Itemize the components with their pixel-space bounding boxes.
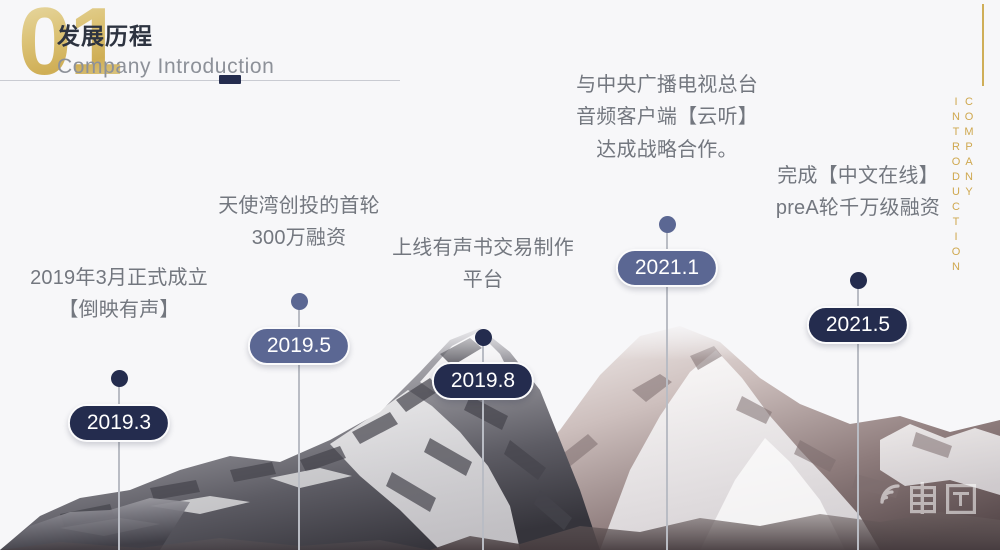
timeline-date-badge[interactable]: 2019.3 [68, 404, 170, 442]
timeline-node-dot[interactable] [475, 329, 492, 346]
timeline-date-badge[interactable]: 2021.1 [616, 249, 718, 287]
timeline-item-description: 与中央广播电视总台音频客户端【云听】达成战略合作。 [572, 69, 762, 166]
side-vertical-label: INTRODUCTION COMPANY [950, 96, 996, 276]
timeline-date-badge[interactable]: 2019.8 [432, 362, 534, 400]
timeline-item-description: 完成【中文在线】preA轮千万级融资 [763, 160, 953, 225]
zhidongxi-watermark-logo [872, 474, 992, 524]
timeline-item-description: 上线有声书交易制作平台 [388, 232, 578, 297]
timeline-date-badge[interactable]: 2021.5 [807, 306, 909, 344]
page-title-en: Company Introduction [57, 53, 274, 80]
timeline-node-dot[interactable] [850, 272, 867, 289]
timeline-node-dot[interactable] [659, 216, 676, 233]
timeline-item-description: 天使湾创投的首轮300万融资 [204, 190, 394, 255]
page-title-cn: 发展历程 [57, 22, 274, 51]
side-accent-line [982, 4, 984, 86]
side-label-line1: COMPANY [963, 96, 974, 276]
timeline-node-dot[interactable] [291, 293, 308, 310]
slide-root: 01 发展历程 Company Introduction INTRODUCTIO… [0, 0, 1000, 550]
page-title-group: 发展历程 Company Introduction [57, 22, 274, 80]
timeline-date-badge[interactable]: 2019.5 [248, 327, 350, 365]
timeline-item-description: 2019年3月正式成立【倒映有声】 [24, 262, 214, 327]
timeline-node-dot[interactable] [111, 370, 128, 387]
